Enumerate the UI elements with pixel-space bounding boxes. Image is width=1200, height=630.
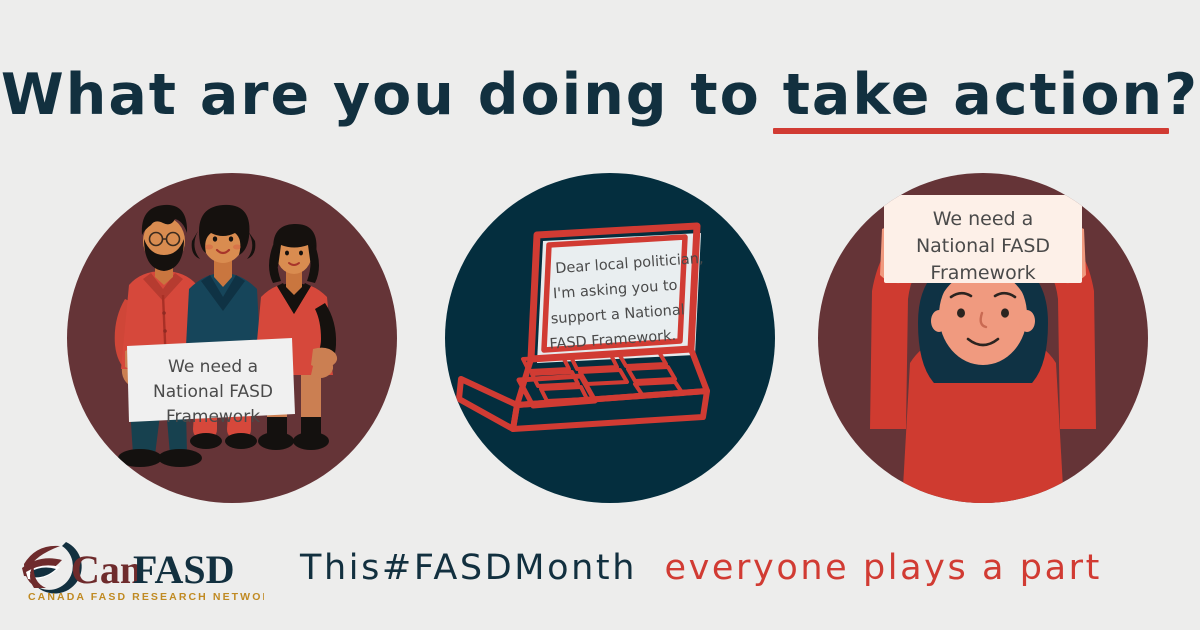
canfasd-logo[interactable]: Can FASD CANADA FASD RESEARCH NETWORK: [14, 536, 264, 610]
page-title: What are you doing to take action?: [0, 62, 1200, 128]
sign-line-3: Framework: [166, 407, 260, 427]
woman-sign-line-1: We need a: [933, 208, 1034, 230]
illustration-group-protest: We need a National FASD Framework: [67, 173, 397, 503]
sign-line-1: We need a: [168, 357, 258, 377]
headline-accent: take action?: [783, 62, 1199, 128]
tagline-hashtag: This#FASDMonth: [300, 548, 637, 588]
woman-sign-line-2: National FASD: [916, 235, 1050, 257]
poster-canvas: What are you doing to take action?: [0, 0, 1200, 630]
sign-line-2: National FASD: [153, 382, 273, 402]
logo-subtitle: CANADA FASD RESEARCH NETWORK: [28, 591, 264, 603]
illustration-laptop-letter: Dear local politician, I'm asking you to…: [445, 173, 775, 503]
raised-sign: We need a National FASD Framework: [884, 195, 1082, 284]
headline-plain: What are you doing to: [1, 62, 783, 128]
woman-sign-line-3: Framework: [930, 262, 1035, 284]
logo-word-can: Can: [71, 547, 142, 592]
tagline: This#FASDMonth everyone plays a part: [300, 548, 1102, 588]
illustration-woman-with-sign: We need a National FASD Framework: [818, 173, 1148, 503]
protest-sign: We need a National FASD Framework: [127, 338, 295, 427]
headline-underline: [773, 128, 1169, 134]
logo-word-fasd: FASD: [133, 547, 234, 592]
tagline-message: everyone plays a part: [664, 548, 1102, 588]
